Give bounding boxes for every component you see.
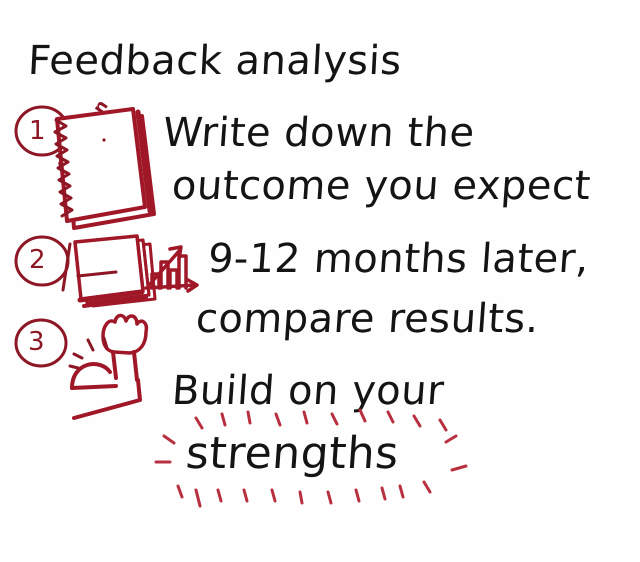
whiteboard-sketch: Feedback analysis Write down the outcome… (0, 0, 640, 562)
step-2-text-line-1: 9-12 months later, (206, 236, 590, 282)
paper-stack-icon (63, 235, 156, 308)
step-1-number: 1 (29, 116, 46, 146)
bar-chart-icon (146, 247, 197, 291)
flexing-arm-icon (70, 315, 146, 418)
step-3-number: 3 (28, 327, 45, 357)
step-3-text-line-2: strengths (184, 428, 400, 479)
step-2-number: 2 (29, 245, 46, 275)
page-title: Feedback analysis (27, 38, 403, 84)
notebook-label-notes: notes (80, 145, 127, 201)
step-2-text-line-2: compare results. (194, 296, 540, 342)
step-1-text-line-2: outcome you expect (170, 163, 592, 209)
paper-stack-label: of (74, 244, 99, 272)
step-1-text-line-1: Write down the (161, 110, 476, 156)
step-3-text-line-1: Build on your (170, 368, 445, 414)
